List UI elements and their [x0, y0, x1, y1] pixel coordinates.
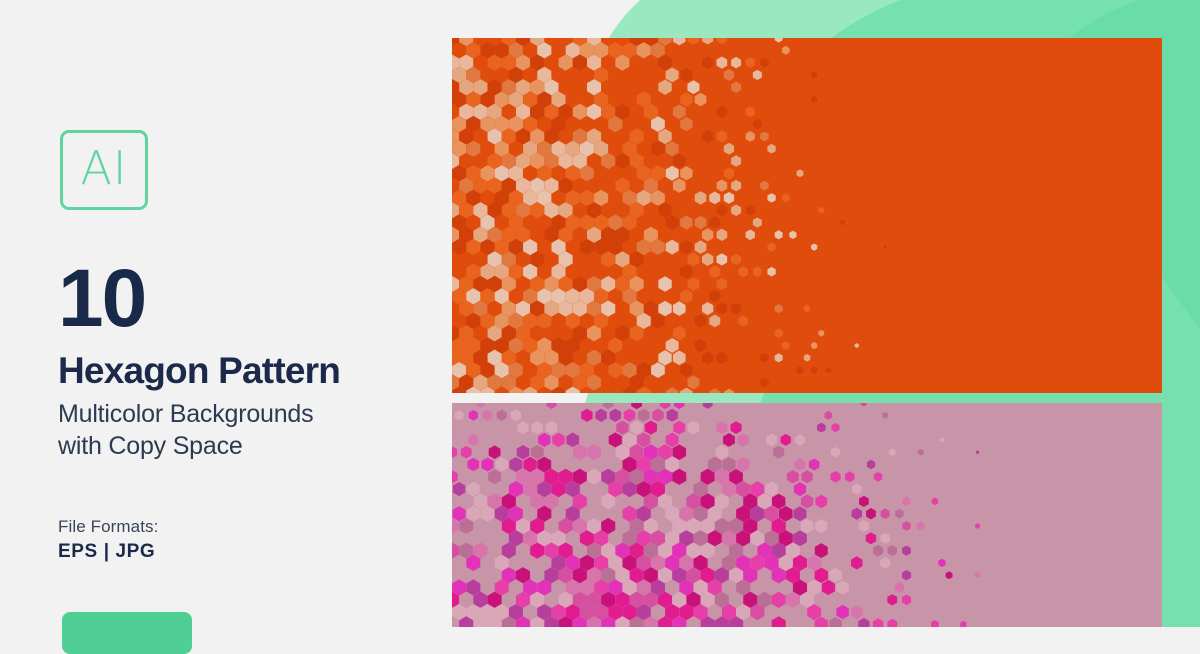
preview-orange-hexagon-pattern[interactable] [452, 38, 1162, 393]
ai-badge-label: AI [80, 145, 127, 191]
subtitle-line-1: Multicolor Backgrounds [58, 398, 438, 430]
preview-pink-hexagon-pattern[interactable] [452, 403, 1162, 627]
orange-hexagon-canvas [452, 38, 1162, 393]
cta-button[interactable] [62, 612, 192, 654]
page-title: Hexagon Pattern [58, 352, 340, 391]
file-formats-value: EPS | JPG [58, 541, 155, 563]
item-count: 10 [58, 258, 145, 340]
page-subtitle: Multicolor Backgrounds with Copy Space [58, 398, 438, 462]
ai-format-badge: AI [60, 130, 148, 210]
subtitle-line-2: with Copy Space [58, 430, 438, 462]
file-formats-label: File Formats: [58, 517, 158, 537]
info-panel: AI 10 Hexagon Pattern Multicolor Backgro… [0, 0, 452, 627]
pink-hexagon-canvas [452, 403, 1162, 627]
